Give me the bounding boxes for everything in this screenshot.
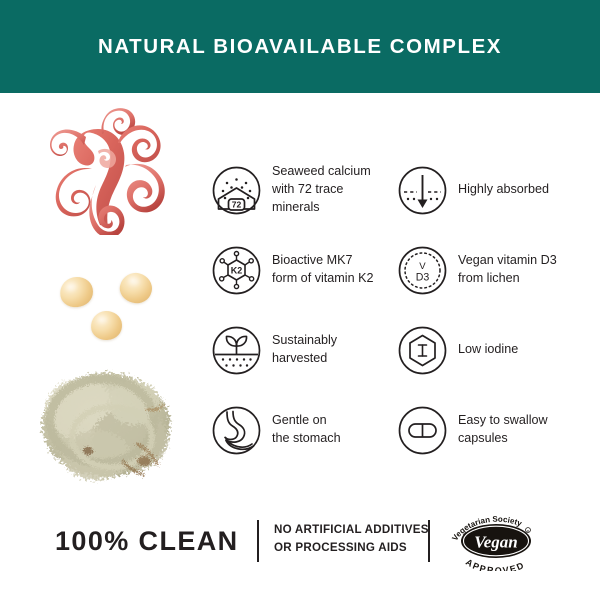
feature-label: Highly absorbed bbox=[458, 181, 549, 199]
feature-label: Low iodine bbox=[458, 341, 518, 359]
feature-easy-swallow: Easy to swallowcapsules bbox=[398, 390, 600, 470]
icon-badge-text: 72 bbox=[232, 199, 242, 209]
footer-bar: 100% CLEAN NO ARTIFICIAL ADDITIVES OR PR… bbox=[0, 505, 600, 577]
feature-row: K2 Bioactive MK7form of vitamin K2 V D3 … bbox=[212, 230, 600, 310]
chickpea bbox=[57, 274, 96, 310]
seaweed-mineral-icon: 72 bbox=[212, 166, 261, 215]
chickpea bbox=[90, 310, 123, 341]
feature-vitamin-k2: K2 Bioactive MK7form of vitamin K2 bbox=[212, 230, 398, 310]
absorption-arrow-icon bbox=[398, 166, 447, 215]
feature-seaweed-calcium: 72 Seaweed calciumwith 72 traceminerals bbox=[212, 150, 398, 230]
feature-row: Gentle onthe stomach Easy to swallowcaps… bbox=[212, 390, 600, 470]
icon-badge-text: K2 bbox=[231, 265, 243, 275]
chickpea bbox=[117, 270, 155, 307]
additives-line-2: OR PROCESSING AIDS bbox=[274, 541, 407, 554]
vegan-d3-icon: V D3 bbox=[398, 246, 447, 295]
footer-divider-1 bbox=[257, 520, 259, 562]
additives-line-1: NO ARTIFICIAL ADDITIVES bbox=[274, 523, 429, 536]
sprout-soil-icon bbox=[212, 326, 261, 375]
infographic-page: NATURAL BIOAVAILABLE COMPLEX bbox=[0, 0, 600, 600]
capsule-icon bbox=[398, 406, 447, 455]
feature-grid: 72 Seaweed calciumwith 72 traceminerals bbox=[212, 150, 600, 480]
feature-row: Sustainablyharvested Low iodine bbox=[212, 310, 600, 390]
feature-label: Easy to swallowcapsules bbox=[458, 412, 548, 448]
iodine-hexagon-icon bbox=[398, 326, 447, 375]
vegetarian-society-vegan-approved-badge: Vegan R Vegetarian Society APPROVED bbox=[442, 511, 550, 571]
feature-label: Vegan vitamin D3from lichen bbox=[458, 252, 557, 288]
feature-highly-absorbed: Highly absorbed bbox=[398, 150, 600, 230]
feature-label: Seaweed calciumwith 72 traceminerals bbox=[272, 163, 371, 217]
icon-badge-bottom-text: D3 bbox=[416, 271, 430, 283]
icon-badge-top-text: V bbox=[419, 261, 426, 272]
feature-vitamin-d3: V D3 Vegan vitamin D3from lichen bbox=[398, 230, 600, 310]
header-band: NATURAL BIOAVAILABLE COMPLEX bbox=[0, 0, 600, 93]
product-image-column bbox=[0, 93, 212, 493]
footer-divider-2 bbox=[428, 520, 430, 562]
clean-claim-text: 100% CLEAN bbox=[55, 526, 239, 557]
chickpeas-image bbox=[58, 265, 170, 347]
stomach-icon bbox=[212, 406, 261, 455]
feature-low-iodine: Low iodine bbox=[398, 310, 600, 390]
molecule-k2-icon: K2 bbox=[212, 246, 261, 295]
badge-center-text: Vegan bbox=[474, 533, 517, 552]
feature-label: Sustainablyharvested bbox=[272, 332, 337, 368]
badge-bottom-text: APPROVED bbox=[464, 557, 527, 571]
feature-sustainably-harvested: Sustainablyharvested bbox=[212, 310, 398, 390]
red-seaweed-image bbox=[28, 107, 194, 235]
feature-label: Bioactive MK7form of vitamin K2 bbox=[272, 252, 373, 288]
page-title: NATURAL BIOAVAILABLE COMPLEX bbox=[98, 35, 502, 59]
feature-row: 72 Seaweed calciumwith 72 traceminerals bbox=[212, 150, 600, 230]
lichen-image bbox=[26, 365, 192, 491]
feature-label: Gentle onthe stomach bbox=[272, 412, 341, 448]
additives-claim-text: NO ARTIFICIAL ADDITIVES OR PROCESSING AI… bbox=[274, 521, 429, 558]
feature-gentle-stomach: Gentle onthe stomach bbox=[212, 390, 398, 470]
